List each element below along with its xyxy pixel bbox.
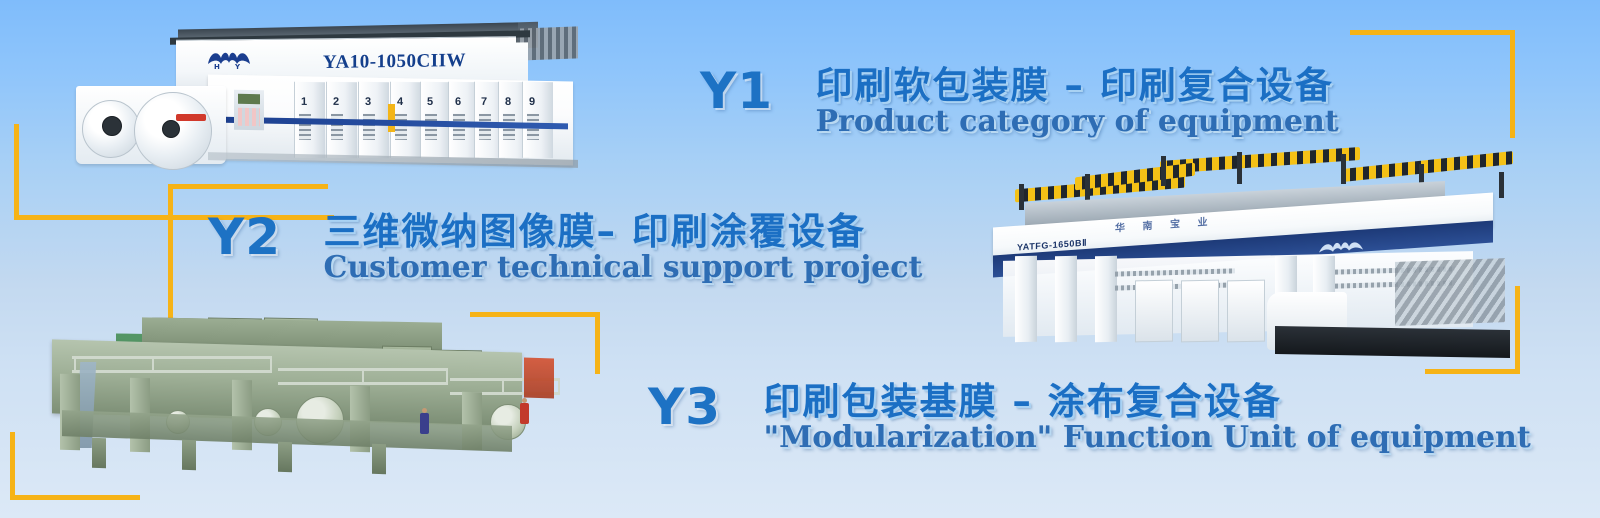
press-red-handle (176, 114, 206, 121)
hy-brand-logo-icon: H Y (206, 48, 252, 70)
product-title-en-y1: Product category of equipment (815, 106, 1338, 138)
product-title-cn-y2: 三维微纳图像膜– 印刷涂覆设备 (323, 212, 922, 252)
product-title-en-y3: "Modularization" Function Unit of equipm… (763, 422, 1530, 454)
machine-photo-laminator: YATFG-1650BⅡ 华 南 宝 业 (975, 152, 1520, 352)
product-row-y1: Y1 印刷软包装膜 – 印刷复合设备 Product category of e… (700, 66, 1339, 137)
laminator-unit (1135, 280, 1173, 343)
svg-text:Y: Y (234, 63, 241, 70)
svg-text:H: H (214, 63, 220, 70)
press-roll-core (102, 116, 122, 136)
laminator-base-shadow (1275, 326, 1510, 358)
laminator-stair (1395, 258, 1505, 326)
press-control-console (234, 90, 264, 131)
laminator-unit (1227, 280, 1265, 343)
product-title-cn-y3: 印刷包装基膜 – 涂布复合设备 (763, 382, 1530, 422)
press-roll-core (162, 120, 180, 138)
product-title-en-y2: Customer technical support project (323, 252, 922, 284)
press-safety-bar (388, 104, 395, 132)
product-code-y3: Y3 (648, 382, 721, 432)
product-title-cn-y1: 印刷软包装膜 – 印刷复合设备 (815, 66, 1338, 106)
coating-red-cabinet (524, 357, 554, 398)
product-code-y1: Y1 (700, 66, 773, 116)
press-model-label: YA10-1050CIIW (323, 50, 466, 74)
operator-figure (420, 408, 429, 434)
product-category-banner: H Y YA10-1050CIIW 1 2 3 4 5 6 7 8 9 (0, 0, 1600, 518)
machine-photo-gravure-press: H Y YA10-1050CIIW 1 2 3 4 5 6 7 8 9 (58, 8, 618, 180)
product-row-y2: Y2 三维微纳图像膜– 印刷涂覆设备 Customer technical su… (208, 212, 922, 283)
bracket-top-right (1350, 30, 1515, 138)
machine-photo-coating-line (32, 312, 572, 480)
press-unit: 9 (522, 82, 553, 159)
operator-figure (520, 398, 529, 424)
product-code-y2: Y2 (208, 212, 281, 262)
product-row-y3: Y3 印刷包装基膜 – 涂布复合设备 "Modularization" Func… (648, 382, 1531, 453)
laminator-unit (1181, 280, 1219, 343)
safety-railing (1343, 151, 1513, 182)
